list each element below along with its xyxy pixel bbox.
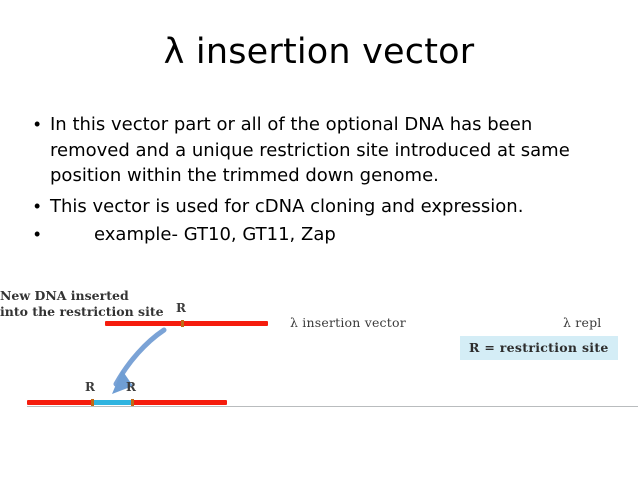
insertion-vector-caption: λ insertion vector [290,315,406,330]
bullet-marker-icon: • [26,112,50,137]
list-item: • example- GT10, GT11, Zap [26,222,596,248]
list-item-text: This vector is used for cDNA cloning and… [50,194,596,220]
page-title: λ insertion vector [0,30,638,74]
list-item-text: example- GT10, GT11, Zap [50,222,596,248]
list-item-text: In this vector part or all of the option… [50,112,596,189]
restriction-site-label-top: R [176,301,186,315]
new-dna-annotation-line1: New DNA inserted [0,288,638,304]
bullet-list: • In this vector part or all of the opti… [26,112,596,252]
insertion-vector-diagram: R λ insertion vector λ repl New DNA inse… [0,288,638,428]
baseline-rule [27,406,638,407]
legend-restriction-site: R = restriction site [460,336,618,360]
inserted-dna-segment [92,400,132,405]
bullet-marker-icon: • [26,194,50,219]
bullet-marker-icon: • [26,222,50,247]
restriction-site-label-bottom-right: R [126,380,136,394]
restriction-site-tick-icon [91,399,94,406]
list-item: • In this vector part or all of the opti… [26,112,596,189]
vector-dna-segment-left [27,400,92,405]
insertion-arrow-icon [100,326,200,401]
list-item: • This vector is used for cDNA cloning a… [26,194,596,220]
vector-dna-segment-right [132,400,227,405]
replacement-vector-caption-truncated: λ repl [563,315,601,330]
restriction-site-tick-icon [131,399,134,406]
restriction-site-label-bottom-left: R [85,380,95,394]
